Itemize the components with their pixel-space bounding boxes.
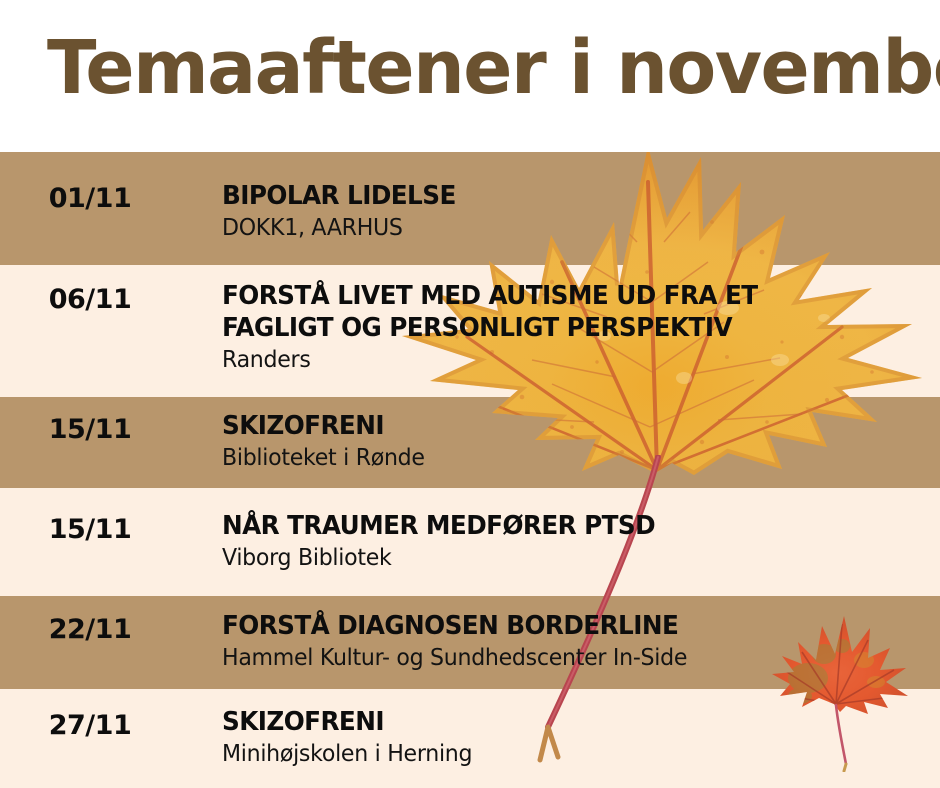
event-row-1[interactable]: 01/11 BIPOLAR LIDELSE DOKK1, AARHUS (0, 152, 940, 265)
event-detail: FORSTÅ DIAGNOSEN BORDERLINE Hammel Kultu… (222, 610, 932, 673)
event-title: NÅR TRAUMER MEDFØRER PTSD (222, 510, 897, 542)
event-date: 15/11 (0, 415, 180, 445)
page-title: Temaaftener i november (47, 28, 940, 108)
event-venue: Minihøjskolen i Herning (222, 740, 904, 769)
event-row-6[interactable]: 27/11 SKIZOFRENI Minihøjskolen i Herning (0, 689, 940, 788)
event-date: 27/11 (0, 711, 180, 741)
event-venue: Randers (222, 346, 904, 375)
event-venue: DOKK1, AARHUS (222, 214, 904, 243)
poster-canvas: Temaaftener i november 01/11 BIPOLAR LID… (0, 0, 940, 788)
event-date: 06/11 (0, 285, 180, 315)
event-title: FORSTÅ DIAGNOSEN BORDERLINE (222, 610, 897, 642)
event-title: BIPOLAR LIDELSE (222, 180, 897, 212)
event-title: SKIZOFRENI (222, 410, 897, 442)
event-venue: Hammel Kultur- og Sundhedscenter In-Side (222, 644, 904, 673)
event-detail: BIPOLAR LIDELSE DOKK1, AARHUS (222, 180, 932, 243)
event-date: 01/11 (0, 184, 180, 214)
event-row-3[interactable]: 15/11 SKIZOFRENI Biblioteket i Rønde (0, 397, 940, 488)
event-venue: Viborg Bibliotek (222, 544, 904, 573)
event-date: 22/11 (0, 615, 180, 645)
event-detail: FORSTÅ LIVET MED AUTISME UD FRA ET FAGLI… (222, 280, 932, 375)
event-title: SKIZOFRENI (222, 706, 897, 738)
event-date: 15/11 (0, 515, 180, 545)
event-row-4[interactable]: 15/11 NÅR TRAUMER MEDFØRER PTSD Viborg B… (0, 488, 940, 596)
event-detail: SKIZOFRENI Biblioteket i Rønde (222, 410, 932, 473)
event-venue: Biblioteket i Rønde (222, 444, 904, 473)
event-row-5[interactable]: 22/11 FORSTÅ DIAGNOSEN BORDERLINE Hammel… (0, 596, 940, 689)
event-detail: SKIZOFRENI Minihøjskolen i Herning (222, 706, 932, 769)
event-detail: NÅR TRAUMER MEDFØRER PTSD Viborg Bibliot… (222, 510, 932, 573)
event-title: FORSTÅ LIVET MED AUTISME UD FRA ET FAGLI… (222, 280, 811, 344)
event-row-2[interactable]: 06/11 FORSTÅ LIVET MED AUTISME UD FRA ET… (0, 265, 940, 397)
title-area: Temaaftener i november (0, 0, 940, 152)
